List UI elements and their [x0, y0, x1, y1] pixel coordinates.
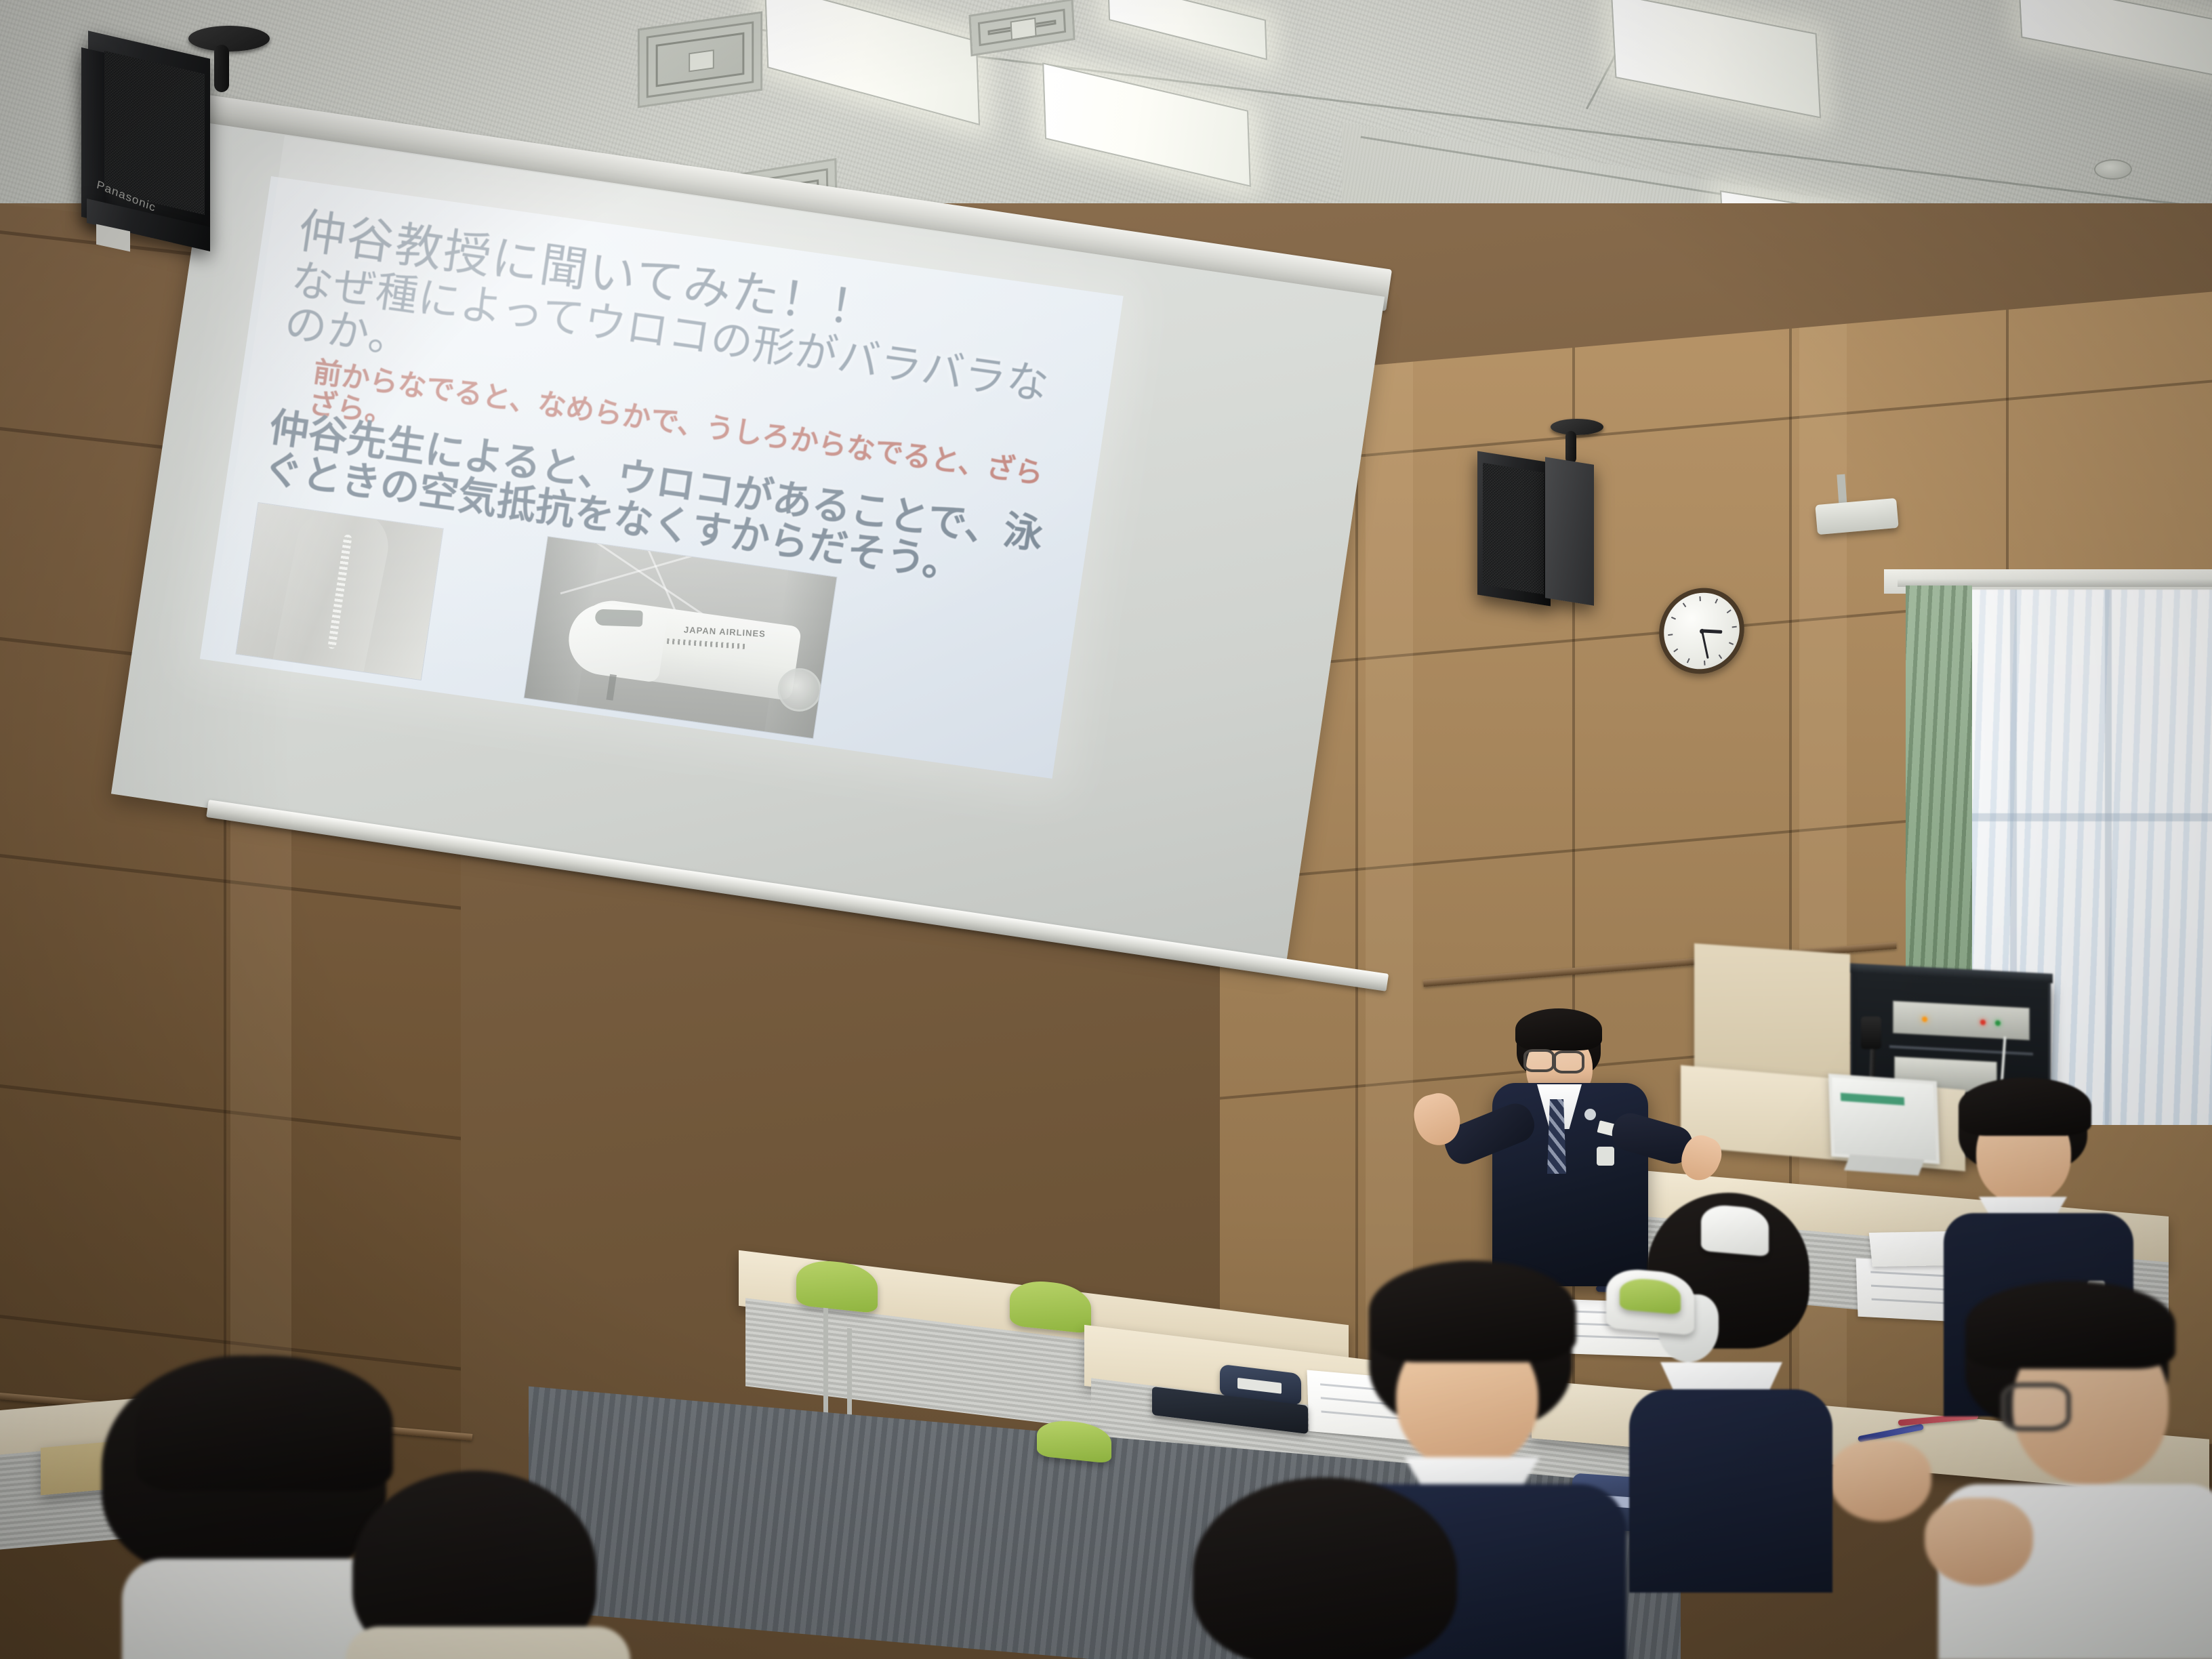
amplifier-unit — [1893, 1001, 2030, 1041]
clock-hour-hand — [1702, 629, 1722, 634]
classroom-photo-scene: 仲谷教授に聞いてみた！！ なぜ種によってウロコの形がバラバラなのか。 前からなで… — [0, 0, 2212, 1659]
clock-minute-hand — [1701, 631, 1709, 659]
tablet-on-stand[interactable] — [1828, 1073, 1940, 1164]
lapel-pin-icon — [1584, 1109, 1596, 1120]
glasses-icon — [1523, 1049, 1555, 1072]
school-emblem-badge — [1597, 1147, 1614, 1166]
slide-photo-swimsuit — [237, 503, 443, 680]
student-hand — [1830, 1440, 1931, 1521]
necktie — [1547, 1099, 1566, 1174]
smoke-detector-icon — [2094, 159, 2132, 180]
glasses-icon — [2001, 1382, 2071, 1431]
student-hand — [1925, 1498, 2033, 1586]
glasses-icon — [1553, 1050, 1584, 1073]
worksheet-paper — [1869, 1231, 1954, 1267]
microphone-icon[interactable] — [1861, 1017, 1881, 1049]
projection-screen[interactable]: 仲谷教授に聞いてみた！！ なぜ種によってウロコの形がバラバラなのか。 前からなで… — [203, 95, 1423, 1342]
